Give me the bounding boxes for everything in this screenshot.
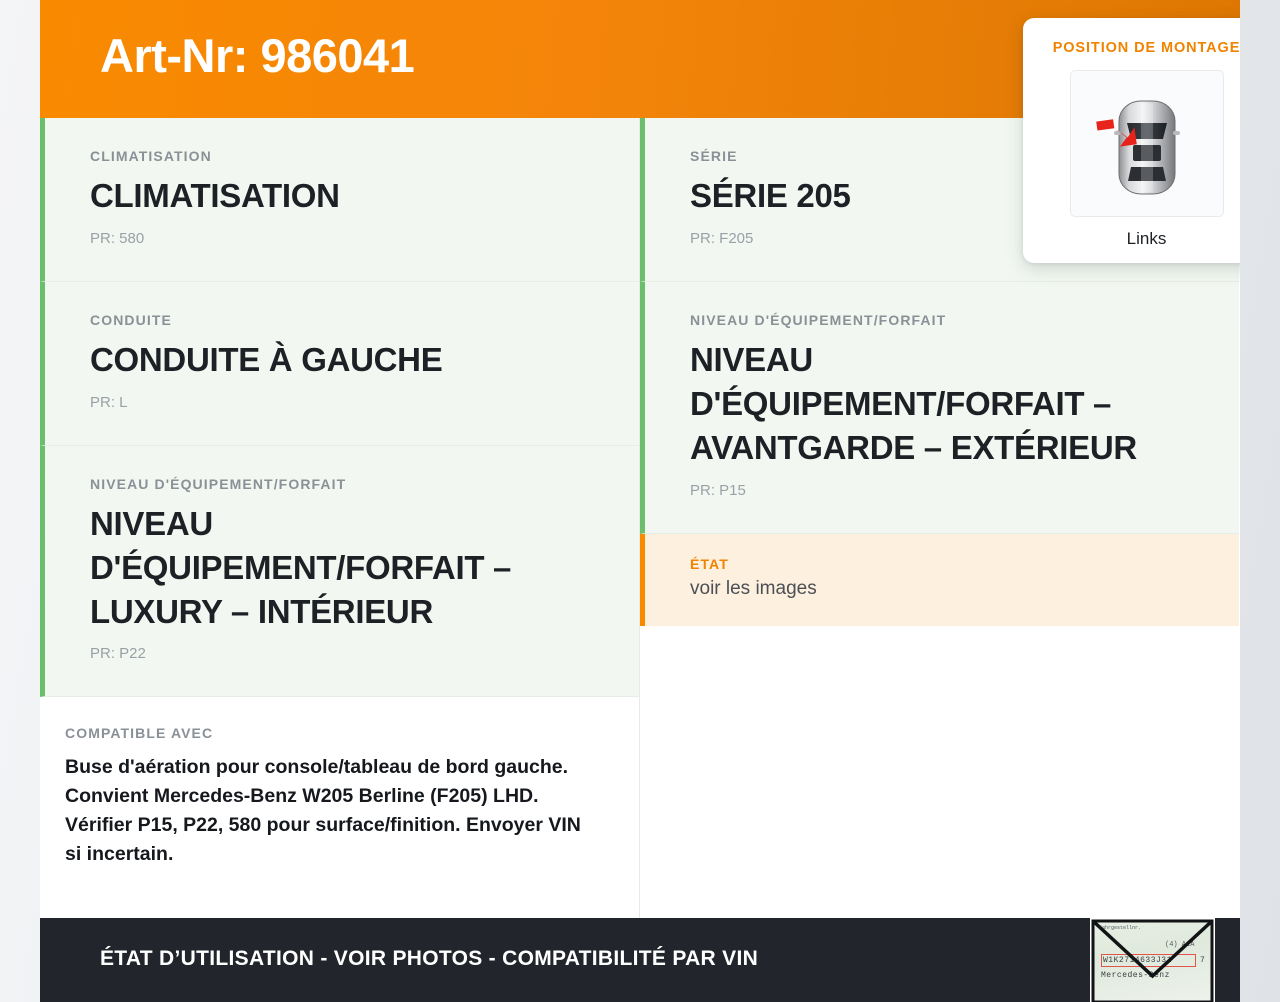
spec-value: CONDUITE À GAUCHE (90, 338, 599, 382)
mounting-position-title: POSITION DE MONTAGE (1023, 40, 1240, 56)
spec-pr-code: PR: P15 (690, 482, 1199, 499)
envelope-icon (1090, 918, 1215, 1002)
spec-label: CONDUITE (90, 312, 599, 328)
spec-label: CLIMATISATION (90, 148, 599, 164)
spec-pr-code: PR: 580 (90, 230, 599, 247)
spec-card-conduite: CONDUITE CONDUITE À GAUCHE PR: L (40, 282, 639, 446)
spec-value: CLIMATISATION (90, 174, 599, 218)
spec-pr-code: PR: L (90, 394, 599, 411)
spec-card-equipement-luxury: NIVEAU D'ÉQUIPEMENT/FORFAIT NIVEAU D'ÉQU… (40, 446, 639, 698)
car-position-thumbnail[interactable] (1070, 70, 1224, 217)
mounting-position-caption: Links (1023, 229, 1240, 249)
spec-card-climatisation: CLIMATISATION CLIMATISATION PR: 580 (40, 118, 639, 282)
vin-document-thumbnail[interactable]: Fahrgestellnr. (4) A1A W1K2714633J31 7 M… (1090, 918, 1215, 1002)
spec-label: NIVEAU D'ÉQUIPEMENT/FORFAIT (690, 312, 1199, 328)
spec-value: NIVEAU D'ÉQUIPEMENT/FORFAIT – AVANTGARDE… (690, 338, 1199, 470)
spec-card-etat: ÉTAT voir les images (640, 534, 1239, 626)
etat-label: ÉTAT (690, 556, 1199, 572)
page-footer: ÉTAT D’UTILISATION - VOIR PHOTOS - COMPA… (40, 918, 1240, 1002)
car-top-view-icon (1071, 71, 1223, 216)
spec-card-equipement-avantgarde: NIVEAU D'ÉQUIPEMENT/FORFAIT NIVEAU D'ÉQU… (640, 282, 1239, 534)
spec-pr-code: PR: P22 (90, 645, 599, 662)
compatible-with-section: COMPATIBLE AVEC Buse d'aération pour con… (40, 697, 639, 898)
etat-value: voir les images (690, 578, 1199, 600)
article-number-title: Art-Nr: 986041 (100, 28, 414, 83)
compatible-with-label: COMPATIBLE AVEC (65, 725, 599, 741)
spec-value: NIVEAU D'ÉQUIPEMENT/FORFAIT – LUXURY – I… (90, 502, 599, 634)
spec-label: NIVEAU D'ÉQUIPEMENT/FORFAIT (90, 476, 599, 492)
compatible-with-text: Buse d'aération pour console/tableau de … (65, 753, 599, 868)
product-detail-page: Art-Nr: 986041 POSITION DE MONTAGE (40, 0, 1240, 1002)
spec-column-left: CLIMATISATION CLIMATISATION PR: 580 COND… (40, 118, 640, 918)
footer-notice-text: ÉTAT D’UTILISATION - VOIR PHOTOS - COMPA… (100, 947, 758, 971)
mounting-position-card: POSITION DE MONTAGE (1023, 18, 1240, 263)
